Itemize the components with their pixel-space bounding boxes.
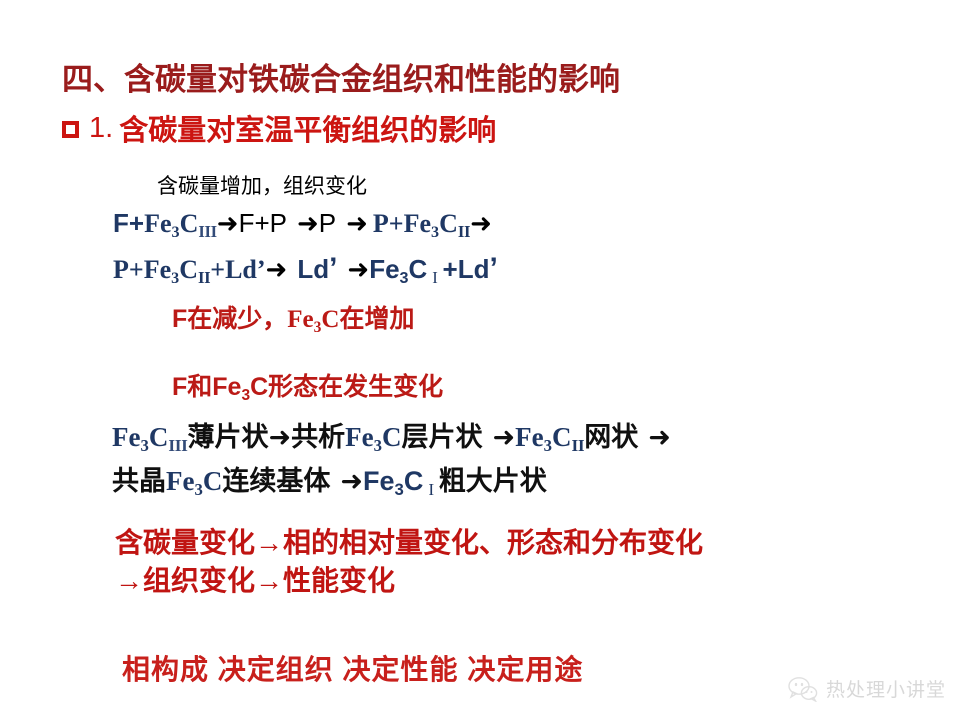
arrow-icon-6: ➜: [347, 254, 369, 284]
formula-token-p: P: [319, 208, 336, 238]
red-line1-after: 在增加: [339, 305, 414, 333]
conclusion-block: 含碳量变化→相的相对量变化、形态和分布变化 →组织变化→性能变化: [115, 524, 703, 600]
formula-line-2: P+Fe3CII+Ld’➜Ld’➜Fe3CI+Ld’: [113, 252, 498, 286]
morph1-fe3c: Fe3C: [345, 422, 401, 452]
page-title: 四、含碳量对铁碳合金组织和性能的影响: [62, 54, 620, 99]
hollow-square-bullet-icon: [62, 121, 79, 138]
red-emphasis-line-2: F和Fe3C形态在发生变化: [172, 367, 443, 403]
red-line2-before: F和: [172, 373, 212, 401]
morph1-label-2: 共析: [291, 422, 345, 452]
arrow-icon-9: ➜: [648, 422, 671, 452]
morph1-label-3: 层片状: [401, 422, 482, 452]
section-heading: 1. 含碳量对室温平衡组织的影响: [62, 107, 496, 149]
morph1-fe3c-3: Fe3CIII: [112, 422, 187, 452]
wechat-bubble-icon: [788, 676, 818, 702]
watermark-label: 热处理小讲堂: [826, 675, 946, 702]
morph2-label-3: 粗大片状: [439, 466, 547, 496]
red-line2-formula: Fe3C: [212, 373, 268, 401]
red-line1-before: F在减少，: [172, 305, 287, 333]
arrow-icon-5: ➜: [266, 254, 288, 284]
arrow-icon-2: ➜: [297, 208, 319, 238]
morph2-fe3c-1: Fe3CI: [363, 466, 434, 496]
red-line1-formula: Fe3C: [287, 306, 339, 333]
red-emphasis-line-1: F在减少，Fe3C在增加: [172, 299, 414, 335]
formula-token-p-fe3c-2: P+Fe3CII: [373, 209, 470, 238]
formula-token-f-plus: F+: [113, 208, 144, 238]
section-number: 1.: [89, 112, 113, 145]
section-heading-label: 含碳量对室温平衡组织的影响: [119, 107, 496, 149]
formula-line-1: F+Fe3CIII➜F+P➜P➜P+Fe3CII➜: [113, 208, 492, 239]
morph2-fe3c: Fe3C: [166, 466, 222, 496]
arrow-icon-7: ➜: [268, 422, 291, 452]
formula-token-f-p: F+P: [239, 208, 287, 238]
morphology-line-2: 共晶Fe3C连续基体➜Fe3CI粗大片状: [112, 459, 547, 498]
morph1-fe3c-2: Fe3CII: [515, 422, 584, 452]
arrow-icon-1: ➜: [217, 208, 239, 238]
arrow-icon-8: ➜: [492, 422, 515, 452]
morph1-label-1: 薄片状: [187, 422, 268, 452]
bottom-summary-line: 相构成 决定组织 决定性能 决定用途: [122, 648, 583, 688]
conclusion-line-2: →组织变化→性能变化: [115, 562, 703, 600]
morph2-label-1: 共晶: [112, 466, 166, 496]
arrow-icon-10: ➜: [340, 466, 363, 496]
formula-token-fe3c-1: Fe3CI+Ld’: [369, 254, 498, 284]
morph1-label-4: 网状: [584, 422, 638, 452]
intro-note: 含碳量增加，组织变化: [157, 170, 367, 200]
conclusion-line-1: 含碳量变化→相的相对量变化、形态和分布变化: [115, 524, 703, 562]
watermark: 热处理小讲堂: [788, 675, 946, 702]
arrow-icon-3: ➜: [346, 208, 368, 238]
formula-token-fe3c-3: Fe3CIII: [144, 209, 217, 238]
formula-token-p-fe3c-2b: P+Fe3CII+Ld’: [113, 255, 266, 284]
formula-token-ld: Ld’: [297, 254, 337, 284]
morphology-line-1: Fe3CIII薄片状➜共析Fe3C层片状➜Fe3CII网状➜: [112, 415, 671, 454]
red-line2-after: 形态在发生变化: [268, 373, 443, 401]
slide-canvas: 四、含碳量对铁碳合金组织和性能的影响 1. 含碳量对室温平衡组织的影响 含碳量增…: [0, 0, 960, 720]
morph2-label-2: 连续基体: [222, 466, 330, 496]
arrow-icon-4: ➜: [470, 208, 492, 238]
